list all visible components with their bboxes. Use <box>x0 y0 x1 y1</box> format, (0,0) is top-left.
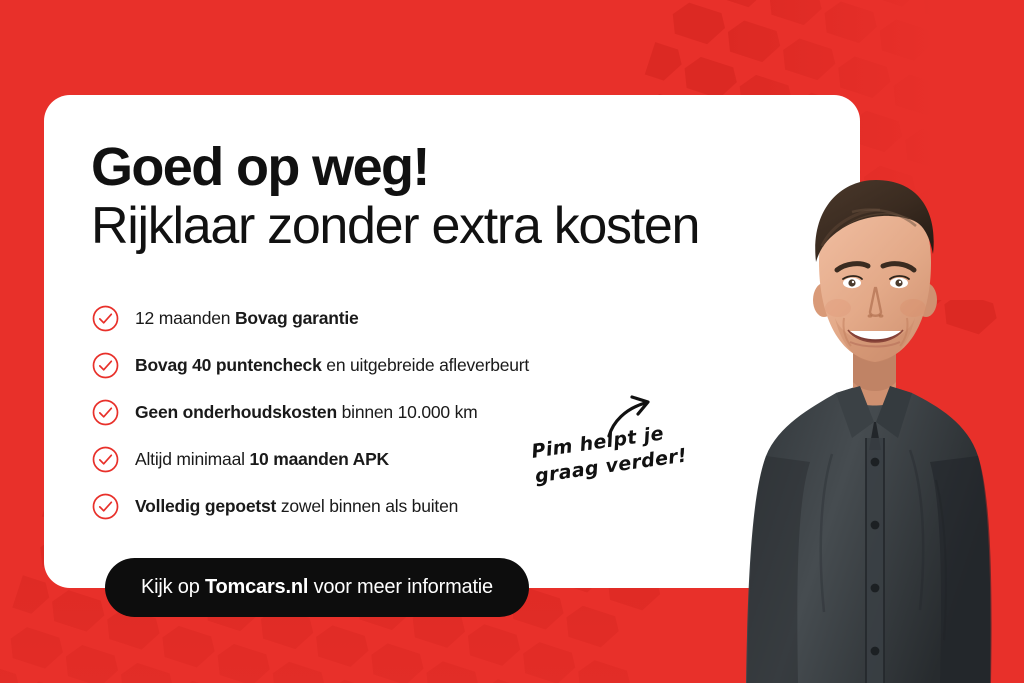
check-circle-icon <box>92 446 119 473</box>
advertisement-banner: Goed op weg! Rijklaar zonder extra koste… <box>0 0 1024 683</box>
check-circle-icon <box>92 305 119 332</box>
list-item-label: Volledig gepoetst zowel binnen als buite… <box>135 496 458 517</box>
list-item: 12 maanden Bovag garantie <box>92 295 652 342</box>
headline-secondary: Rijklaar zonder extra kosten <box>91 197 699 255</box>
check-circle-icon <box>92 399 119 426</box>
list-item: Volledig gepoetst zowel binnen als buite… <box>92 483 652 530</box>
benefits-list: 12 maanden Bovag garantie Bovag 40 punte… <box>92 295 652 530</box>
check-circle-icon <box>92 352 119 379</box>
list-item: Bovag 40 puntencheck en uitgebreide afle… <box>92 342 652 389</box>
cta-button-label: Kijk op Tomcars.nl voor meer informatie <box>141 576 493 599</box>
list-item: Geen onderhoudskosten binnen 10.000 km <box>92 389 652 436</box>
list-item-label: 12 maanden Bovag garantie <box>135 308 359 329</box>
cta-button[interactable]: Kijk op Tomcars.nl voor meer informatie <box>105 558 529 617</box>
check-circle-icon <box>92 493 119 520</box>
list-item: Altijd minimaal 10 maanden APK <box>92 436 652 483</box>
headline-block: Goed op weg! Rijklaar zonder extra koste… <box>91 140 699 255</box>
list-item-label: Geen onderhoudskosten binnen 10.000 km <box>135 402 478 423</box>
list-item-label: Altijd minimaal 10 maanden APK <box>135 449 389 470</box>
headline-primary: Goed op weg! <box>91 140 699 195</box>
list-item-label: Bovag 40 puntencheck en uitgebreide afle… <box>135 355 529 376</box>
content-card: Goed op weg! Rijklaar zonder extra koste… <box>44 95 860 588</box>
